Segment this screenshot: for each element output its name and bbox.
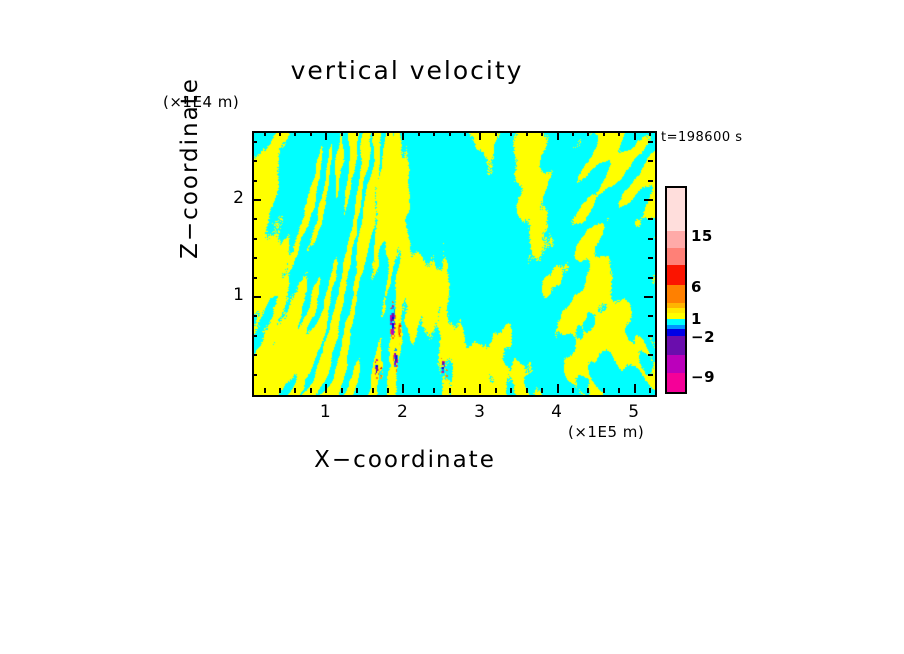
x-minor-tick [387,388,389,393]
y-minor-tick-right [648,354,653,356]
x-major-tick-top [557,131,559,140]
y-major-tick [252,296,261,298]
x-minor-tick-top [587,131,589,136]
x-minor-tick-top [372,131,374,136]
y-major-tick-right [644,199,653,201]
x-minor-tick [526,388,528,393]
x-minor-tick [294,388,296,393]
x-minor-tick-top [510,131,512,136]
x-minor-tick-top [341,131,343,136]
colorbar-band-1 [667,231,685,248]
plot-area [252,131,657,397]
y-minor-tick [252,374,257,376]
colorbar-label-0: 15 [691,227,713,245]
y-minor-tick-right [648,160,653,162]
x-minor-tick-top [418,131,420,136]
x-minor-tick-top [541,131,543,136]
x-major-tick-top [479,131,481,140]
x-minor-tick [341,388,343,393]
colorbar-label-2: 1 [691,310,702,328]
colorbar-label-4: −9 [691,368,715,386]
x-tick-label-2: 2 [387,402,417,422]
y-major-tick-right [644,296,653,298]
colorbar-band-12 [667,355,685,373]
x-minor-tick-top [603,131,605,136]
x-minor-tick-top [387,131,389,136]
x-axis-title-text: X−coordinate [314,447,496,473]
y-major-tick [252,199,261,201]
velocity-field-image [254,133,655,395]
x-minor-tick-top [618,131,620,136]
y-minor-tick [252,257,257,259]
y-minor-tick [252,354,257,356]
x-minor-tick [618,388,620,393]
x-minor-tick [541,388,543,393]
x-minor-tick [310,388,312,393]
y-minor-tick-right [648,335,653,337]
time-annotation: t=198600 s [661,130,743,145]
x-minor-tick-top [649,131,651,136]
x-major-tick-top [634,131,636,140]
colorbar [665,186,687,394]
x-tick-label-3: 3 [464,402,494,422]
y-minor-tick-right [648,315,653,317]
y-minor-tick-right [648,180,653,182]
x-tick-label-5: 5 [619,402,649,422]
y-minor-tick [252,180,257,182]
x-minor-tick [279,388,281,393]
x-minor-tick [603,388,605,393]
y-minor-tick [252,335,257,337]
colorbar-band-10 [667,329,685,336]
x-minor-tick-top [356,131,358,136]
colorbar-band-11 [667,336,685,355]
x-minor-tick [372,388,374,393]
x-minor-tick [264,388,266,393]
x-minor-tick-top [310,131,312,136]
y-minor-tick-right [648,374,653,376]
y-minor-tick [252,141,257,143]
x-minor-tick-top [526,131,528,136]
x-minor-tick [418,388,420,393]
colorbar-label-3: −2 [691,328,715,346]
x-major-tick [634,384,636,393]
y-minor-tick [252,315,257,317]
x-minor-tick [649,388,651,393]
x-minor-tick [356,388,358,393]
y-minor-tick-right [648,141,653,143]
y-minor-tick [252,238,257,240]
y-minor-tick [252,277,257,279]
page-title-text: vertical velocity [291,56,524,85]
colorbar-band-0 [667,188,685,231]
x-major-tick [402,384,404,393]
x-minor-tick-top [264,131,266,136]
x-minor-tick-top [433,131,435,136]
x-minor-tick-top [495,131,497,136]
y-minor-tick [252,218,257,220]
y-minor-tick-right [648,277,653,279]
y-minor-tick [252,160,257,162]
x-minor-tick [464,388,466,393]
page-title: vertical velocity [0,56,904,85]
x-minor-tick-top [449,131,451,136]
y-minor-tick-right [648,238,653,240]
x-major-tick [479,384,481,393]
x-minor-tick [572,388,574,393]
y-tick-label-1: 1 [214,285,244,305]
x-major-tick-top [402,131,404,140]
x-minor-tick [510,388,512,393]
x-tick-label-4: 4 [542,402,572,422]
x-axis-units-label: (×1E5 m) [568,423,644,441]
y-minor-tick-right [648,257,653,259]
colorbar-band-3 [667,265,685,285]
colorbar-band-2 [667,248,685,265]
x-major-tick-top [325,131,327,140]
colorbar-band-13 [667,373,685,392]
x-minor-tick [495,388,497,393]
x-axis-title: X−coordinate [0,447,904,473]
x-major-tick [325,384,327,393]
x-minor-tick [433,388,435,393]
y-axis-title: Z−coordinate [177,38,203,298]
x-minor-tick-top [279,131,281,136]
y-minor-tick-right [648,218,653,220]
colorbar-band-4 [667,285,685,303]
colorbar-label-1: 6 [691,278,702,296]
x-minor-tick-top [464,131,466,136]
x-minor-tick [449,388,451,393]
x-minor-tick-top [572,131,574,136]
x-minor-tick-top [294,131,296,136]
x-minor-tick [587,388,589,393]
y-tick-label-2: 2 [214,188,244,208]
x-tick-label-1: 1 [310,402,340,422]
x-major-tick [557,384,559,393]
